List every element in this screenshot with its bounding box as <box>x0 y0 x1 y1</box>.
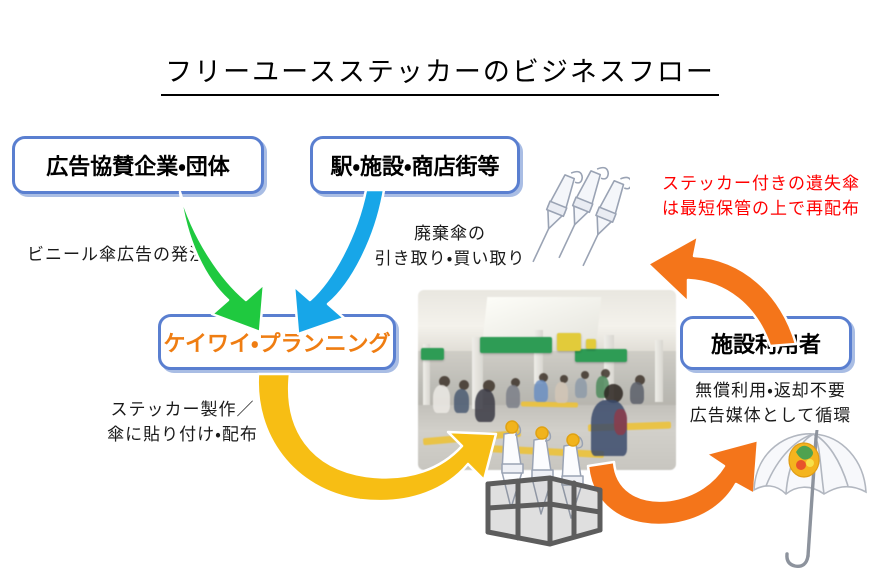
caption-lost-umbrella-alert: ステッカー付きの遺失傘 は最短保管の上で再配布 <box>642 172 880 221</box>
node-station[interactable]: 駅・施設・商店街等 <box>310 136 520 194</box>
caption-usage: 無償利用・返却不要 広告媒体として循環 <box>668 379 873 428</box>
open-umbrella-sticker-icon <box>748 430 873 570</box>
caption-order: ビニール傘広告の発注 <box>2 243 232 268</box>
node-ky-planning-label: ケイワイ・プランニング <box>163 326 390 358</box>
diagram-canvas: フリーユースステッカーのビジネスフロー <box>0 0 880 587</box>
node-ky-planning[interactable]: ケイワイ・プランニング <box>158 314 396 370</box>
node-sponsor[interactable]: 広告協賛企業・団体 <box>12 136 264 194</box>
node-facility-user-label: 施設利用者 <box>711 327 821 359</box>
page-title: フリーユースステッカーのビジネスフロー <box>0 50 880 96</box>
node-facility-user[interactable]: 施設利用者 <box>680 316 852 370</box>
page-title-text: フリーユースステッカーのビジネスフロー <box>161 50 719 96</box>
node-sponsor-label: 広告協賛企業・団体 <box>46 149 229 181</box>
sticker-graphic <box>789 443 819 477</box>
node-station-label: 駅・施設・商店街等 <box>331 149 500 181</box>
station-concourse-photo <box>418 290 676 470</box>
caption-collect: 廃棄傘の 引き取り・買い取り <box>355 222 545 271</box>
caption-produce: ステッカー製作／ 傘に貼り付け・配布 <box>70 398 295 447</box>
